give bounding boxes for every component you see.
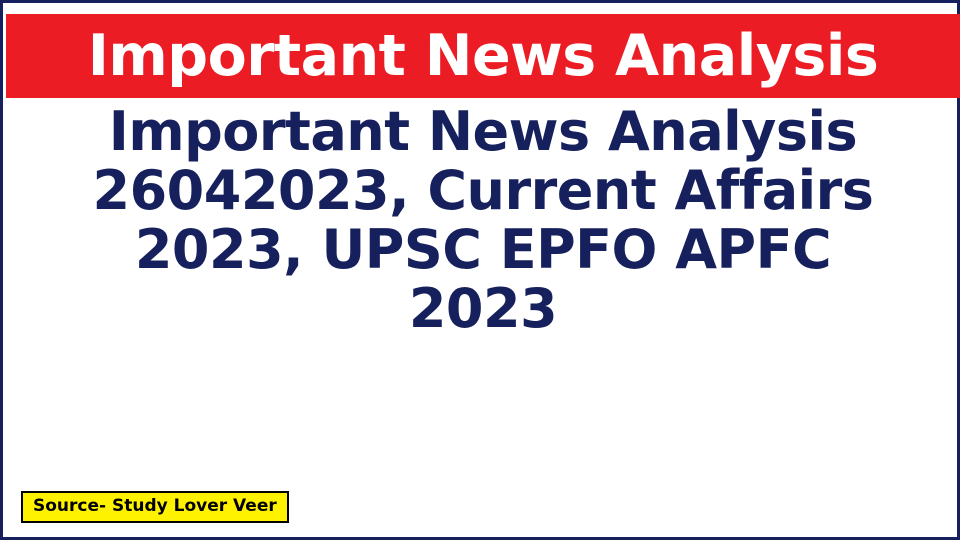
source-badge: Source- Study Lover Veer — [21, 491, 289, 523]
headline-line: 2023 — [13, 280, 953, 339]
title-banner: Important News Analysis — [6, 14, 960, 98]
slide-container: Important News Analysis Important News A… — [0, 0, 960, 540]
headline-line: 2023, UPSC EPFO APFC — [13, 221, 953, 280]
headline-block: Important News Analysis 26042023, Curren… — [13, 103, 953, 338]
headline-line: 26042023, Current Affairs — [13, 162, 953, 221]
headline-line: Important News Analysis — [13, 103, 953, 162]
banner-title: Important News Analysis — [88, 28, 879, 85]
